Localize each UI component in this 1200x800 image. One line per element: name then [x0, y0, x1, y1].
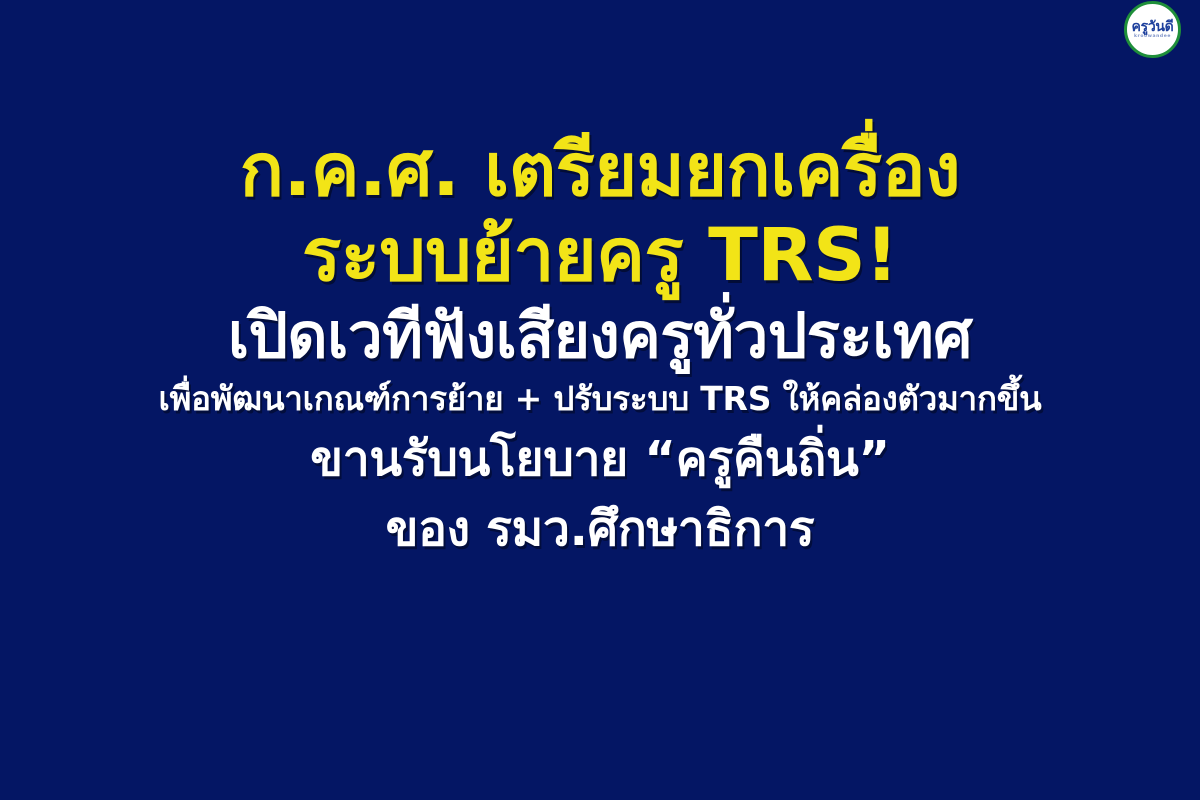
headline-line-6: ของ รมว.ศึกษาธิการ — [0, 494, 1200, 564]
news-banner: ครูวันดี kroowandee ก.ค.ศ. เตรียมยกเครื่… — [0, 0, 1200, 800]
headline-stack: ก.ค.ศ. เตรียมยกเครื่อง ระบบย้ายครู TRS! … — [0, 128, 1200, 564]
logo-sub-text: kroowandee — [1134, 35, 1171, 40]
headline-line-4: เพื่อพัฒนาเกณฑ์การย้าย + ปรับระบบ TRS ให… — [0, 374, 1200, 424]
logo-main-text: ครูวันดี — [1132, 20, 1174, 34]
headline-line-2: ระบบย้ายครู TRS! — [0, 214, 1200, 298]
headline-line-5: ขานรับนโยบาย “ครูคืนถิ่น” — [0, 424, 1200, 494]
kroowandee-logo[interactable]: ครูวันดี kroowandee — [1124, 1, 1181, 58]
headline-line-3: เปิดเวทีฟังเสียงครูทั่วประเทศ — [0, 298, 1200, 374]
headline-line-1: ก.ค.ศ. เตรียมยกเครื่อง — [0, 128, 1200, 214]
